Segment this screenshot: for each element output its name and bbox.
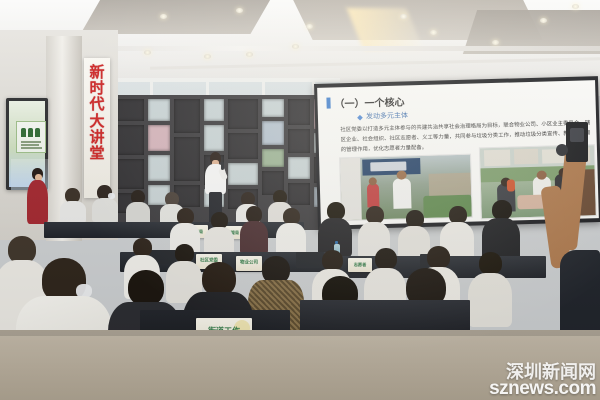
downlight-icon [236,8,243,13]
downlight-icon [292,44,299,49]
person-figure-icon [28,128,33,137]
downlight-icon [572,4,579,9]
poster-caption-line [21,141,41,143]
slide-bullet-heading: 发动多元主体 [366,110,408,121]
microphone-icon [221,162,224,170]
downlight-icon [540,18,547,23]
audience-member [276,208,306,256]
downlight-icon [400,14,407,19]
audience-member [240,206,268,254]
audience-member [482,200,520,260]
slide-title: （一）一个核心 [334,93,404,110]
attendee-standing-red [26,168,50,224]
watermark-domain: sznews.com [489,379,596,398]
downlight-icon [306,24,313,29]
vertical-banner: 新时代大讲堂 [84,58,110,198]
downlight-icon [492,40,499,45]
poster-card [16,121,46,153]
photo-scene: 新时代大讲堂 （一）一个核心 发动多元主体 社区党委以打造多元主体参与的共建共治… [0,0,600,400]
floor-shadow [0,330,600,336]
downlight-icon [246,52,253,57]
operator-torso [560,250,600,342]
downlight-icon [204,54,211,59]
audience-member [468,252,512,326]
ceiling-seam-2 [150,57,600,69]
ceiling-panel-left [80,0,273,34]
audience-member [60,188,86,222]
downlight-icon [430,30,437,35]
person-figure-icon [21,128,26,137]
downlight-icon [144,50,151,55]
attendee-torso [27,180,48,224]
slide-title-accent-bar [326,98,330,109]
watermark: 深圳新闻网 sznews.com [489,364,596,398]
camera-operator [548,128,600,268]
operator-hand [556,144,568,156]
banner-text: 新时代大讲堂 [84,64,110,161]
downlight-icon [160,14,167,19]
poster-caption-line [21,147,42,149]
poster-caption-line [21,144,39,146]
audience-member [126,190,150,224]
audience-member [92,185,118,221]
camera-lens-icon [570,128,584,142]
slide-bullet-marker-icon [357,115,363,121]
person-figure-icon [35,128,40,137]
